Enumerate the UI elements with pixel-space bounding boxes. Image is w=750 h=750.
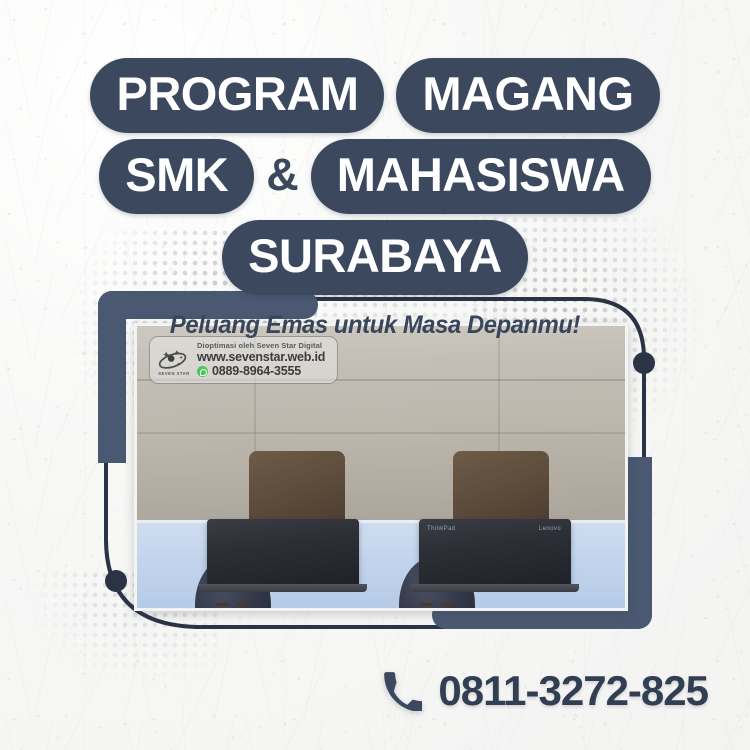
contact-block[interactable]: 0811-3272-825	[382, 670, 708, 712]
headline-pill-magang: MAGANG	[396, 58, 659, 133]
seven-star-logo-icon: SEVEN STAR	[157, 345, 191, 375]
chair	[453, 451, 549, 529]
watermark-text-block: Dioptimasi oleh Seven Star Digital www.s…	[197, 342, 325, 378]
accent-dot-right	[633, 352, 655, 374]
contact-phone-number: 0811-3272-825	[438, 670, 708, 712]
laptop-brand-label: ThinkPad	[427, 526, 456, 532]
chair	[249, 451, 345, 529]
headline-line-1: PROGRAM MAGANG	[0, 58, 750, 133]
student-eyebrow	[237, 603, 250, 606]
watermark-website: www.sevenstar.web.id	[197, 350, 325, 364]
headline-block: PROGRAM MAGANG SMK & MAHASISWA SURABAYA …	[0, 58, 750, 340]
student-eyebrow	[216, 603, 229, 606]
laptop-brand-label-secondary: Lenovo	[539, 526, 561, 532]
whatsapp-icon	[197, 366, 208, 377]
headline-subtitle: Peluang Emas untuk Masa Depanmu!	[19, 311, 732, 340]
internship-photo: DKV DKV	[134, 323, 628, 611]
student-eyebrow	[441, 603, 454, 606]
headline-pill-smk: SMK	[99, 139, 254, 214]
watermark-phone-row: 0889-8964-3555	[197, 364, 325, 378]
phone-icon	[382, 671, 422, 711]
watermark-credit-line: Dioptimasi oleh Seven Star Digital	[197, 342, 325, 350]
headline-pill-surabaya: SURABAYA	[222, 220, 528, 295]
poster-canvas: PROGRAM MAGANG SMK & MAHASISWA SURABAYA …	[0, 0, 750, 750]
wall-line	[137, 432, 625, 434]
headline-pill-program: PROGRAM	[90, 58, 384, 133]
student-eyebrow	[420, 603, 433, 606]
laptop-right: ThinkPad Lenovo	[419, 519, 571, 585]
watermark-phone-number: 0889-8964-3555	[212, 364, 301, 378]
headline-ampersand: &	[266, 152, 299, 201]
accent-dot-left	[105, 570, 127, 592]
laptop-left	[207, 519, 359, 585]
headline-line-2: SMK & MAHASISWA	[0, 139, 750, 214]
seven-star-logo-name: SEVEN STAR	[157, 371, 191, 376]
laptop-base	[199, 584, 367, 592]
headline-pill-mahasiswa: MAHASISWA	[311, 139, 651, 214]
watermark-badge: SEVEN STAR Dioptimasi oleh Seven Star Di…	[149, 336, 338, 384]
headline-line-3: SURABAYA	[0, 220, 750, 295]
laptop-base	[411, 584, 579, 592]
frame-bracket-bottom-right-vertical	[624, 457, 652, 629]
